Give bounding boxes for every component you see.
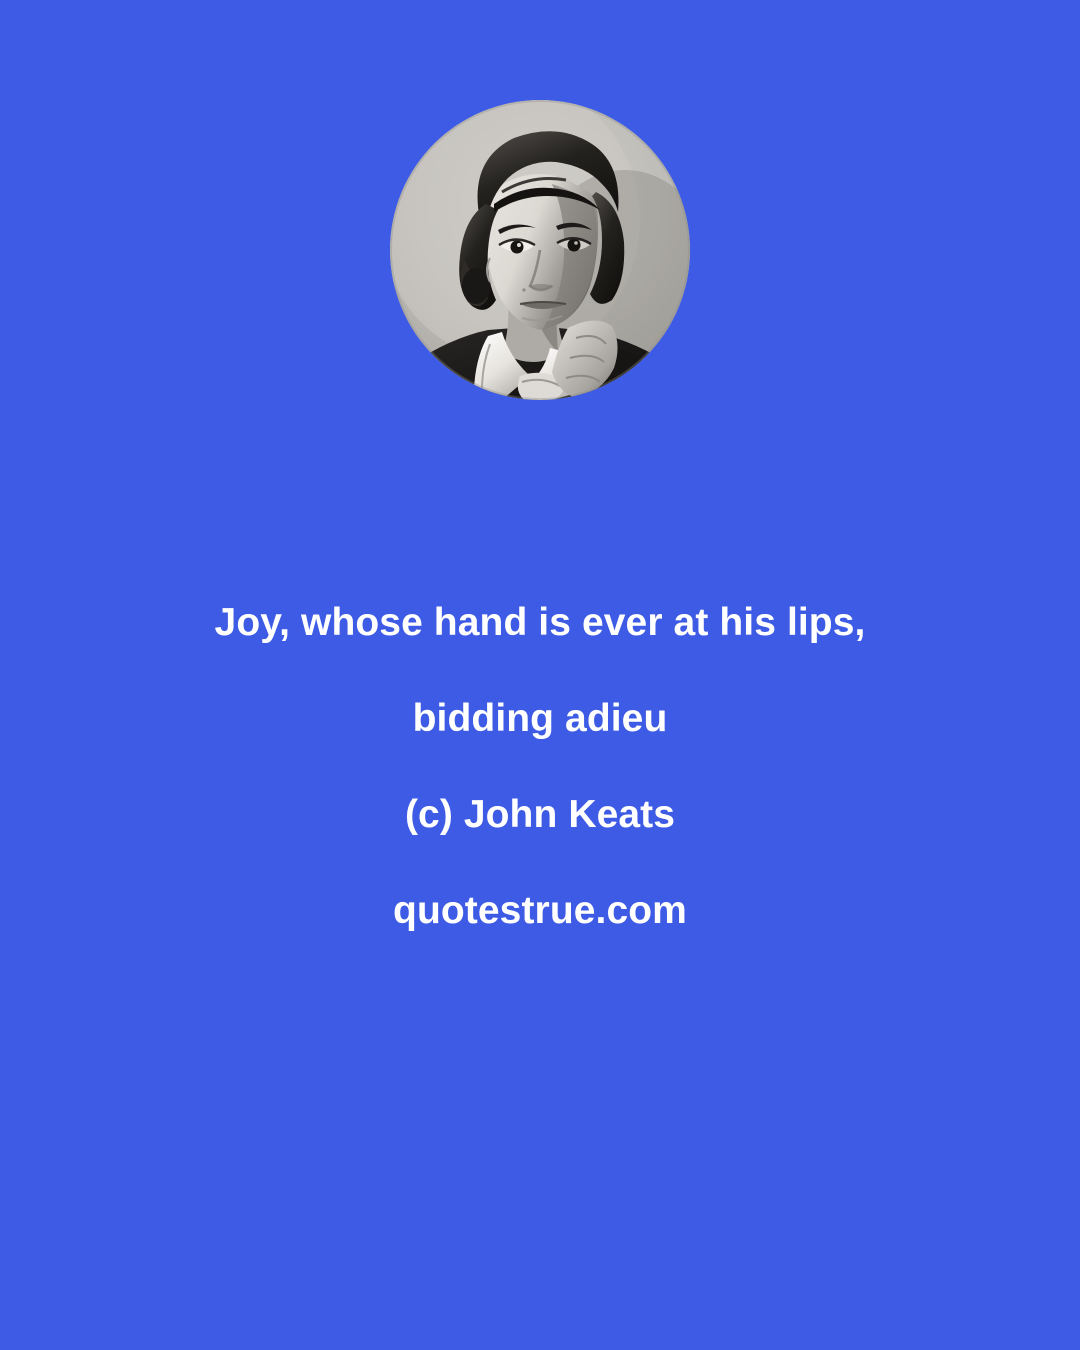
author-portrait-avatar	[390, 100, 690, 400]
quote-line-1: Joy, whose hand is ever at his lips,	[0, 575, 1080, 671]
portrait-photo-john-keats-icon	[390, 100, 690, 400]
quote-line-2: bidding adieu	[0, 671, 1080, 767]
quote-attribution: (c) John Keats	[0, 767, 1080, 863]
quote-card: Joy, whose hand is ever at his lips, bid…	[0, 0, 1080, 1350]
quote-text-block: Joy, whose hand is ever at his lips, bid…	[0, 575, 1080, 959]
source-website: quotestrue.com	[0, 863, 1080, 959]
